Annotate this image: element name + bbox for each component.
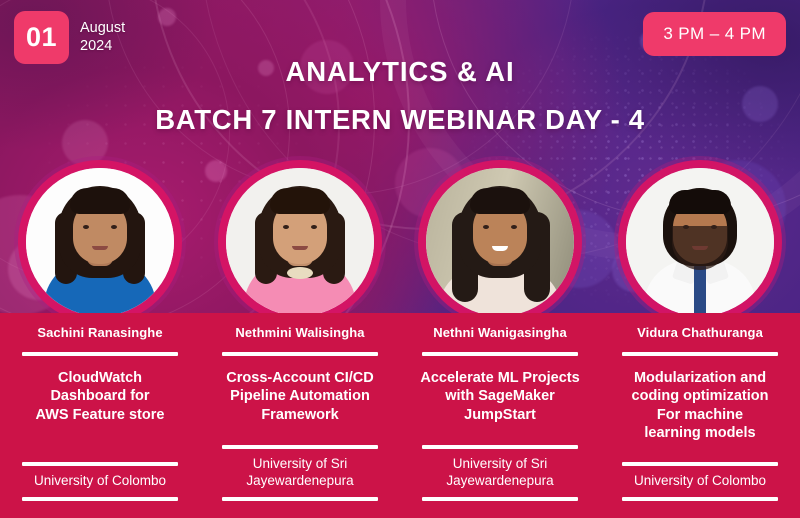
name-divider (422, 352, 578, 356)
speakers-band: Sachini Ranasinghe CloudWatch Dashboard … (0, 313, 800, 518)
speaker-university-block: University of Sri Jayewardenepura (410, 445, 590, 501)
title-line-1: ANALYTICS & AI (0, 55, 800, 89)
university-divider-bottom (222, 497, 378, 501)
topic-line: coding optimization (632, 387, 769, 406)
speaker-university: University of Sri Jayewardenepura (210, 449, 390, 497)
speaker-card: Nethni Wanigasingha Accelerate ML Projec… (400, 313, 600, 518)
avatar (26, 168, 174, 316)
topic-line: Pipeline Automation (226, 387, 373, 406)
speaker-university-block: University of Colombo (10, 462, 190, 501)
topic-line: Modularization and (632, 369, 769, 388)
speaker-card: Vidura Chathuranga Modularization and co… (600, 313, 800, 518)
speaker-topic: Accelerate ML Projects with SageMaker Ju… (420, 369, 579, 425)
speaker-photo-cell (400, 168, 600, 320)
speaker-topic: CloudWatch Dashboard for AWS Feature sto… (36, 369, 165, 425)
name-divider (222, 352, 378, 356)
speaker-university: University of Colombo (634, 466, 766, 497)
topic-line: For machine (632, 406, 769, 425)
name-divider (22, 352, 178, 356)
speaker-card: Nethmini Walisingha Cross-Account CI/CD … (200, 313, 400, 518)
avatar (626, 168, 774, 316)
university-divider-bottom (22, 497, 178, 501)
portrait-nethmini-walisingha (226, 168, 374, 316)
speaker-university: University of Sri Jayewardenepura (410, 449, 590, 497)
bokeh-dot (158, 8, 176, 26)
date-month-label: August (80, 20, 125, 37)
topic-line: with SageMaker (420, 387, 579, 406)
speaker-university-block: University of Sri Jayewardenepura (210, 445, 390, 501)
speaker-name: Vidura Chathuranga (637, 325, 763, 341)
topic-line: learning models (632, 424, 769, 443)
topic-line: CloudWatch (36, 369, 165, 388)
date-month-year: August 2024 (80, 20, 125, 54)
page-title: ANALYTICS & AI BATCH 7 INTERN WEBINAR DA… (0, 55, 800, 136)
speaker-photo-cell (0, 168, 200, 320)
speaker-university-block: University of Colombo (610, 462, 790, 501)
speaker-topic: Cross-Account CI/CD Pipeline Automation … (226, 369, 373, 425)
event-time-badge: 3 PM – 4 PM (643, 12, 786, 56)
avatar (226, 168, 374, 316)
portrait-vidura-chathuranga (626, 168, 774, 316)
topic-line: Dashboard for (36, 387, 165, 406)
date-day-number: 01 (26, 22, 57, 53)
portrait-nethni-wanigasingha (426, 168, 574, 316)
speaker-photo-row (0, 168, 800, 320)
speaker-topic: Modularization and coding optimization F… (632, 369, 769, 443)
topic-line: Cross-Account CI/CD (226, 369, 373, 388)
speaker-photo-cell (600, 168, 800, 320)
topic-line: Accelerate ML Projects (420, 369, 579, 388)
university-divider-bottom (622, 497, 778, 501)
speaker-name: Nethmini Walisingha (235, 325, 364, 341)
event-time-label: 3 PM – 4 PM (663, 24, 766, 44)
speaker-name: Sachini Ranasinghe (37, 325, 162, 341)
topic-line: Framework (226, 406, 373, 425)
speaker-name: Nethni Wanigasingha (433, 325, 567, 341)
name-divider (622, 352, 778, 356)
title-line-2: BATCH 7 INTERN WEBINAR DAY - 4 (0, 103, 800, 137)
date-year-label: 2024 (80, 38, 125, 55)
topic-line: JumpStart (420, 406, 579, 425)
webinar-poster: 01 August 2024 3 PM – 4 PM ANALYTICS & A… (0, 0, 800, 518)
speaker-university: University of Colombo (34, 466, 166, 497)
topic-line: AWS Feature store (36, 406, 165, 425)
speaker-card: Sachini Ranasinghe CloudWatch Dashboard … (0, 313, 200, 518)
avatar (426, 168, 574, 316)
portrait-sachini-ranasinghe (26, 168, 174, 316)
university-divider-bottom (422, 497, 578, 501)
speaker-photo-cell (200, 168, 400, 320)
